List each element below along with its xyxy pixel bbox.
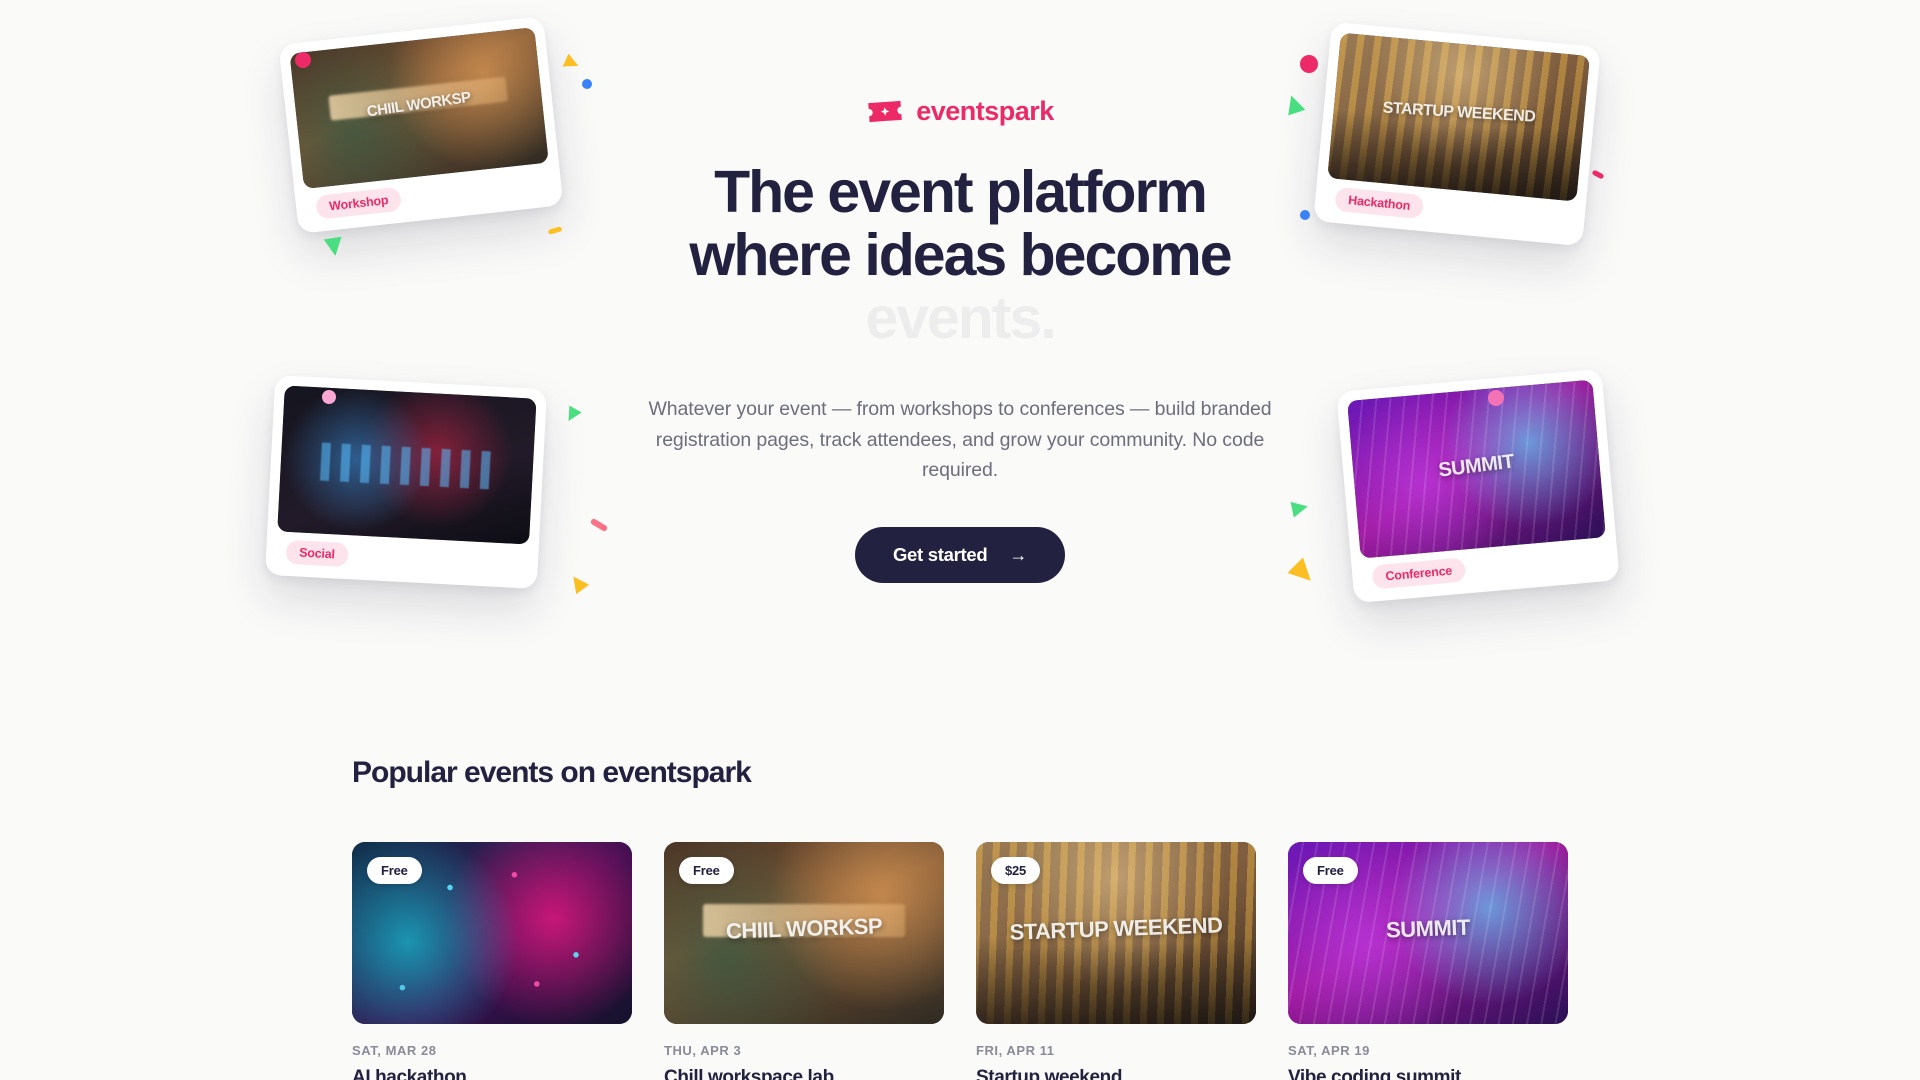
confetti-tri xyxy=(324,237,345,258)
event-date: FRI, APR 11 xyxy=(976,1043,1256,1058)
confetti-dot xyxy=(582,79,592,89)
hero-photo-card-social[interactable]: Social xyxy=(265,375,547,589)
headline-line-1: The event platform xyxy=(640,161,1280,224)
event-thumbnail: Free xyxy=(352,842,632,1024)
event-card-grid: FreeSAT, MAR 28AI hackathonCHIIL WORKSPF… xyxy=(352,842,1568,1080)
event-title: Startup weekend xyxy=(976,1067,1256,1080)
event-thumbnail: CHIIL WORKSPFree xyxy=(664,842,944,1024)
confetti-bar xyxy=(548,226,563,235)
confetti-dot xyxy=(295,52,311,68)
hero-photo: SUMMIT xyxy=(1347,380,1606,559)
photo-artwork xyxy=(277,386,536,545)
price-badge: Free xyxy=(1303,857,1358,884)
confetti-dot xyxy=(322,390,336,404)
confetti-dot xyxy=(1300,210,1310,220)
event-card[interactable]: CHIIL WORKSPFreeTHU, APR 3Chill workspac… xyxy=(664,842,944,1080)
popular-events-section: Popular events on eventspark FreeSAT, MA… xyxy=(0,756,1920,1080)
headline-line-2: where ideas become xyxy=(640,224,1280,287)
event-card[interactable]: SUMMITFreeSAT, APR 19Vibe coding summit xyxy=(1288,842,1568,1080)
confetti-dot xyxy=(1300,55,1318,73)
headline-line-3: events. xyxy=(640,287,1280,350)
event-thumbnail: STARTUP WEEKEND$25 xyxy=(976,842,1256,1024)
price-badge: Free xyxy=(367,857,422,884)
event-date: SAT, MAR 28 xyxy=(352,1043,632,1058)
confetti-bar xyxy=(1592,169,1605,179)
hero-photo xyxy=(277,386,536,545)
hero-photo-card-conference[interactable]: SUMMIT Conference xyxy=(1336,369,1619,603)
price-badge: Free xyxy=(679,857,734,884)
event-date: THU, APR 3 xyxy=(664,1043,944,1058)
brand-logo[interactable]: eventspark xyxy=(640,96,1280,127)
cta-row: Get started → xyxy=(640,527,1280,583)
section-title: Popular events on eventspark xyxy=(352,756,1568,790)
event-thumbnail: SUMMITFree xyxy=(1288,842,1568,1024)
confetti-tri xyxy=(1291,499,1310,518)
hero-content: eventspark The event platform where idea… xyxy=(640,96,1280,583)
get-started-label: Get started xyxy=(893,544,987,566)
ticket-icon xyxy=(866,98,904,125)
event-date: SAT, APR 19 xyxy=(1288,1043,1568,1058)
confetti-tri xyxy=(1287,557,1318,588)
landing-page: CHIIL WORKSP Workshop STARTUP WEEKEND Ha… xyxy=(0,0,1920,1080)
event-title: Vibe coding summit xyxy=(1288,1067,1568,1080)
event-title: Chill workspace lab xyxy=(664,1067,944,1080)
confetti-tri xyxy=(562,405,581,424)
event-card[interactable]: FreeSAT, MAR 28AI hackathon xyxy=(352,842,632,1080)
hero-subtitle: Whatever your event — from workshops to … xyxy=(640,394,1280,485)
hero-photo-card-workshop[interactable]: CHIIL WORKSP Workshop xyxy=(279,16,564,234)
confetti-dot xyxy=(1488,390,1504,406)
price-badge: $25 xyxy=(991,857,1040,884)
event-title: AI hackathon xyxy=(352,1067,632,1080)
hero-photo-card-hackathon[interactable]: STARTUP WEEKEND Hackathon xyxy=(1313,22,1601,247)
event-card[interactable]: STARTUP WEEKEND$25FRI, APR 11Startup wee… xyxy=(976,842,1256,1080)
hero-card-tag: Workshop xyxy=(315,187,402,220)
hero-card-tag: Conference xyxy=(1372,557,1467,589)
confetti-tri xyxy=(567,572,589,594)
brand-name: eventspark xyxy=(916,96,1054,127)
hero-photo: CHIIL WORKSP xyxy=(290,27,549,189)
confetti-tri xyxy=(1283,93,1306,116)
confetti-tri xyxy=(563,54,581,72)
hero-section: CHIIL WORKSP Workshop STARTUP WEEKEND Ha… xyxy=(0,0,1920,730)
page-title: The event platform where ideas become ev… xyxy=(640,161,1280,350)
get-started-button[interactable]: Get started → xyxy=(855,527,1065,583)
confetti-bar xyxy=(590,518,609,532)
hero-card-tag: Hackathon xyxy=(1334,187,1424,219)
arrow-right-icon: → xyxy=(1009,546,1027,564)
hero-card-tag: Social xyxy=(286,540,349,567)
hero-photo: STARTUP WEEKEND xyxy=(1327,33,1590,202)
